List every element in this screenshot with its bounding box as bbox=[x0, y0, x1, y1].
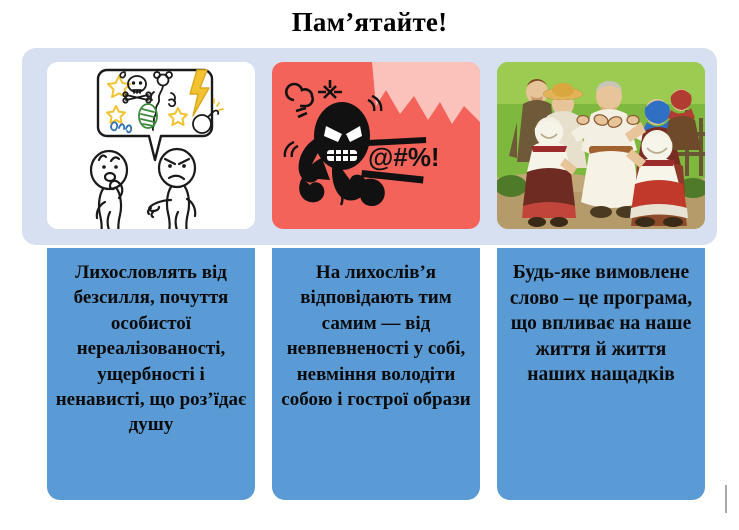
statement-text-1: Лихословлять від безсилля, почуття особи… bbox=[55, 260, 247, 438]
statement-box-1[interactable]: Лихословлять від безсилля, почуття особи… bbox=[47, 248, 255, 500]
slide-canvas: Пам’ятайте! bbox=[0, 0, 739, 530]
photo-card-village-quarrel[interactable] bbox=[497, 62, 705, 229]
statement-box-2[interactable]: На лихослів’я відповідають тим самим — в… bbox=[272, 248, 480, 500]
edge-rule-artifact bbox=[725, 485, 727, 513]
photo-card-angry-shouting-silhouette[interactable]: @#%! bbox=[272, 62, 480, 229]
photo-band: @#%! bbox=[22, 48, 717, 245]
page-title: Пам’ятайте! bbox=[0, 6, 739, 38]
svg-text:@#%!: @#%! bbox=[368, 142, 440, 172]
statement-text-3: Будь-яке вимовлене слово – це програма, … bbox=[505, 260, 697, 388]
statement-text-2: На лихослів’я відповідають тим самим — в… bbox=[280, 260, 472, 412]
statement-box-3[interactable]: Будь-яке вимовлене слово – це програма, … bbox=[497, 248, 705, 500]
photo-card-swearing-stick-figures[interactable] bbox=[47, 62, 255, 229]
